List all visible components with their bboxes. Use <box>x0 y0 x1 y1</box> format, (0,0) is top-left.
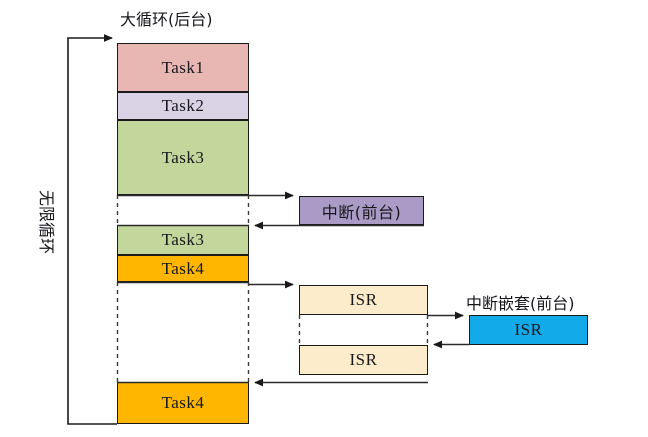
interrupt-block-foreground: 中断(前台) <box>299 196 424 225</box>
task-block-task4-first: Task4 <box>117 255 249 282</box>
task-block-gap-interrupted-1 <box>117 195 249 225</box>
task-block-label: Task4 <box>162 393 205 413</box>
main-column-title: 大循环(后台) <box>120 6 213 30</box>
task-block-task3-first: Task3 <box>117 120 249 195</box>
task-block-task1: Task1 <box>117 43 249 92</box>
task-block-label: Task3 <box>162 148 205 168</box>
interrupt-block-label: 中断(前台) <box>322 199 402 223</box>
nested-isr-block: ISR <box>469 315 588 345</box>
task-block-label: Task4 <box>162 259 205 279</box>
task-block-task4-resumed: Task4 <box>117 382 249 424</box>
task-block-label: Task2 <box>162 96 205 116</box>
nested-interrupt-title: 中断嵌套(前台) <box>466 290 575 314</box>
task-block-gap-interrupted-2 <box>117 282 249 382</box>
isr-block-label: ISR <box>350 350 378 370</box>
task-block-task3-resumed: Task3 <box>117 225 249 255</box>
nested-isr-block-label: ISR <box>515 320 543 340</box>
task-block-label: Task1 <box>162 58 205 78</box>
isr-block-bottom: ISR <box>299 345 428 375</box>
task-block-label: Task3 <box>162 230 205 250</box>
diagram-canvas: 大循环(后台) 无限循环 中断嵌套(前台) Task1 Task2 Task3 … <box>0 0 648 437</box>
infinite-loop-arrow <box>68 38 117 424</box>
isr-block-label: ISR <box>350 290 378 310</box>
infinite-loop-label: 无限循环 <box>36 190 60 254</box>
isr-block-top: ISR <box>299 285 428 315</box>
task-block-task2: Task2 <box>117 92 249 120</box>
